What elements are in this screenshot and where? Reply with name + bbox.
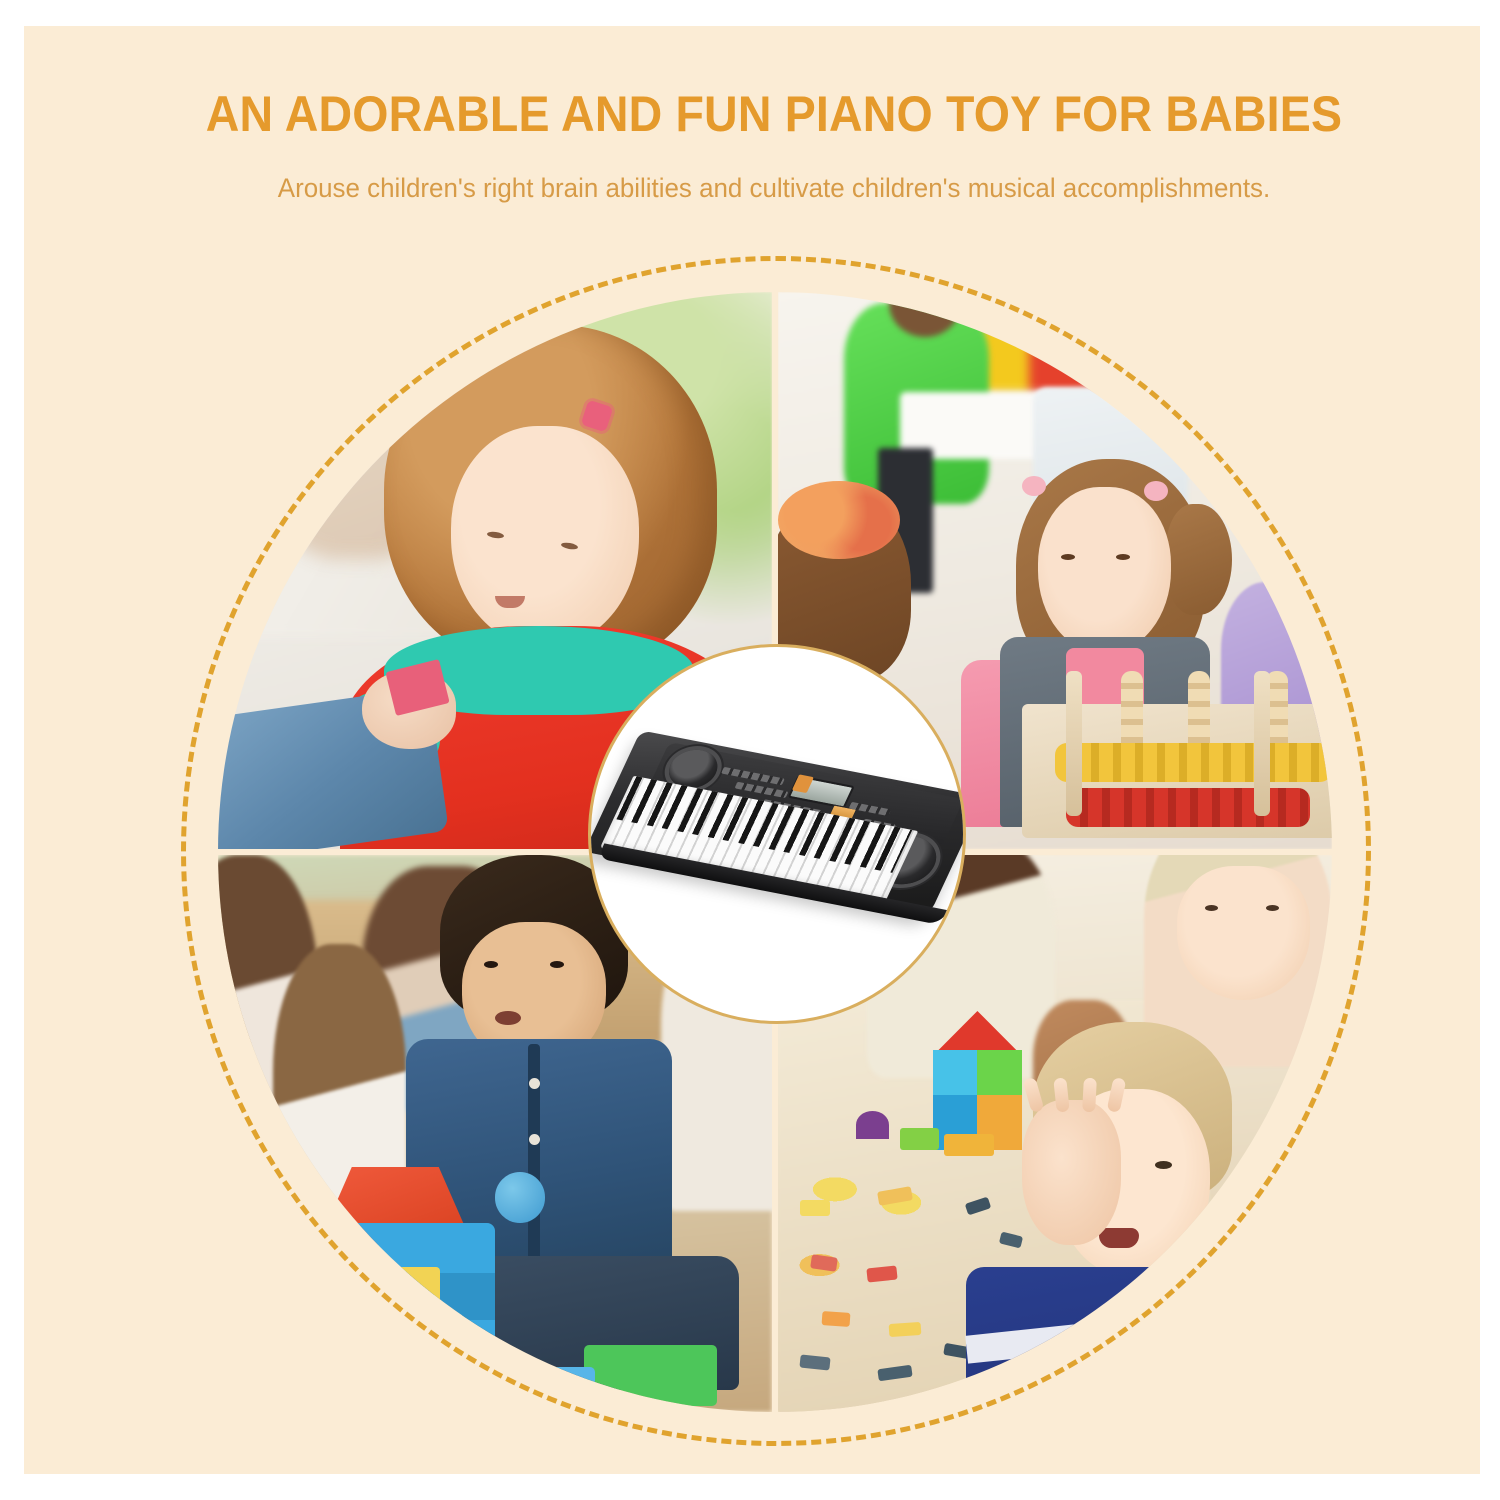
electronic-keyboard-icon	[592, 727, 966, 966]
product-image-circle	[588, 644, 966, 1024]
page-title: AN ADORABLE AND FUN PIANO TOY FOR BABIES	[77, 84, 1472, 144]
page-subtitle: Arouse children's right brain abilities …	[54, 171, 1494, 205]
poster-panel: AN ADORABLE AND FUN PIANO TOY FOR BABIES…	[24, 26, 1480, 1474]
poster-root: AN ADORABLE AND FUN PIANO TOY FOR BABIES…	[0, 0, 1500, 1500]
